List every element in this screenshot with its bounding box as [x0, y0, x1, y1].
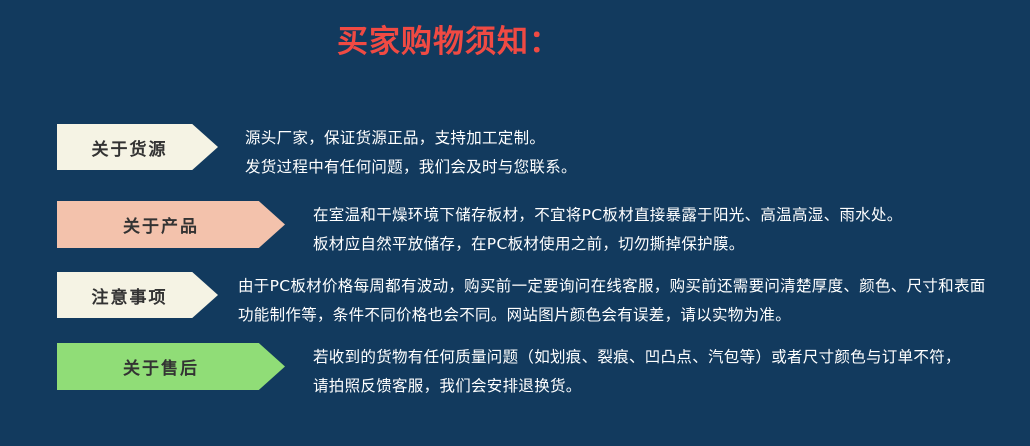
notice-text-aftersales: 若收到的货物有任何质量问题（如划痕、裂痕、凹凸点、汽包等）或者尺寸颜色与订单不符… — [313, 343, 961, 401]
notice-text-line: 发货过程中有任何问题，我们会及时与您联系。 — [245, 153, 577, 182]
notice-text-attention: 由于PC板材价格每周都有波动，购买前一定要询问在线客服，购买前还需要问清楚厚度、… — [238, 272, 986, 330]
banner-label-attention: 注意事项 — [92, 283, 168, 308]
notice-text-line: 由于PC板材价格每周都有波动，购买前一定要询问在线客服，购买前还需要问清楚厚度、… — [238, 272, 986, 301]
notice-text-product: 在室温和干燥环境下储存板材，不宜将PC板材直接暴露于阳光、高温高湿、雨水处。 板… — [313, 201, 903, 259]
notice-text-line: 若收到的货物有任何质量问题（如划痕、裂痕、凹凸点、汽包等）或者尺寸颜色与订单不符… — [313, 343, 961, 372]
banner-source[interactable]: 关于货源 — [57, 124, 218, 170]
notice-text-line: 源头厂家，保证货源正品，支持加工定制。 — [245, 124, 577, 153]
notice-text-line: 板材应自然平放储存，在PC板材使用之前，切勿撕掉保护膜。 — [313, 230, 903, 259]
page-title-text: 买家购物须知： — [337, 22, 561, 62]
notice-text-line: 在室温和干燥环境下储存板材，不宜将PC板材直接暴露于阳光、高温高湿、雨水处。 — [313, 201, 903, 230]
banner-label-product: 关于产品 — [123, 212, 199, 237]
banner-label-source: 关于货源 — [92, 135, 168, 160]
notice-text-line: 功能制作等，条件不同价格也会不同。网站图片颜色会有误差，请以实物为准。 — [238, 301, 986, 330]
buyer-notice-page: 买家购物须知： 关于货源 源头厂家，保证货源正品，支持加工定制。 发货过程中有任… — [0, 0, 1030, 446]
banner-label-aftersales: 关于售后 — [123, 354, 199, 379]
notice-text-line: 请拍照反馈客服，我们会安排退换货。 — [313, 372, 961, 401]
banner-attention[interactable]: 注意事项 — [57, 272, 218, 318]
page-title: 买家购物须知： — [0, 22, 1030, 62]
banner-aftersales[interactable]: 关于售后 — [57, 343, 285, 390]
notice-text-source: 源头厂家，保证货源正品，支持加工定制。 发货过程中有任何问题，我们会及时与您联系… — [245, 124, 577, 182]
banner-product[interactable]: 关于产品 — [57, 201, 285, 248]
